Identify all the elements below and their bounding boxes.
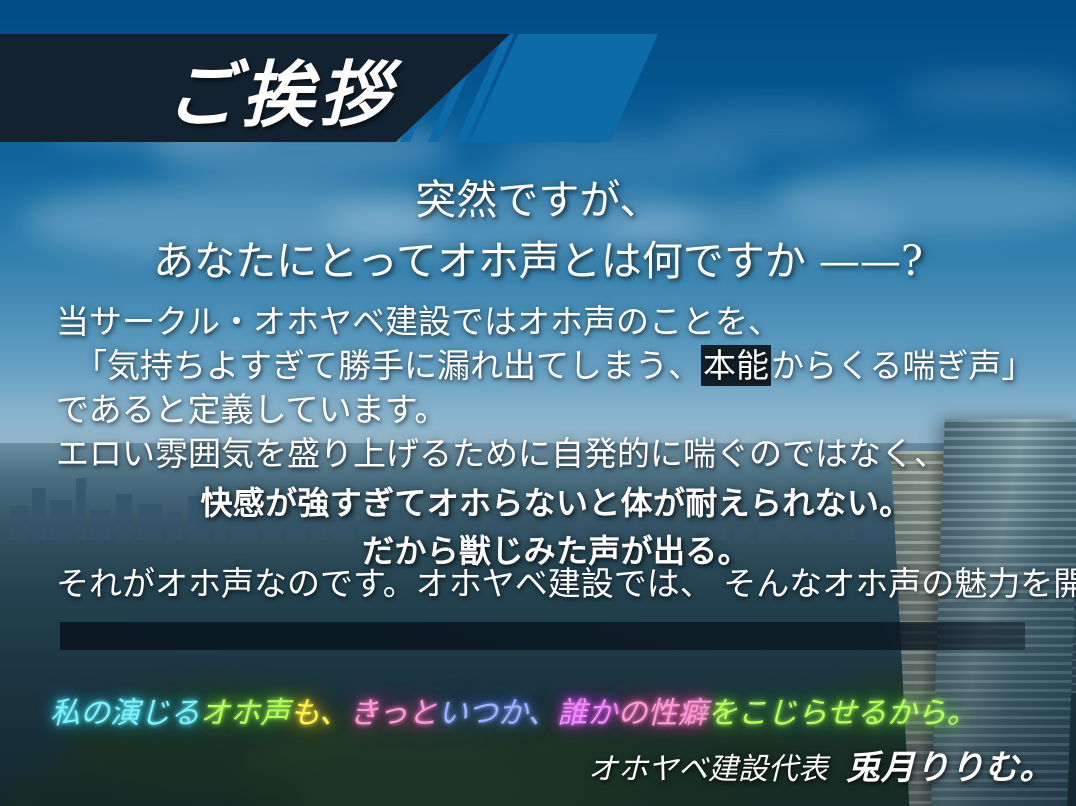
body-text-lower: それがオホ声なのです。オホヤベ建設では、 そんなオホ声の魅力を開拓し、皆様にご提… — [56, 562, 1066, 606]
text-backdrop-band — [60, 622, 1025, 650]
neon-tagline: 私の演じるオホ声も、きっといつか、誰かの性癖をこじらせるから。 — [50, 688, 1060, 732]
body-line-5: それがオホ声なのです。オホヤベ建設では、 — [56, 564, 713, 603]
body-line-2-highlight: 本能 — [701, 345, 771, 386]
body-line-6: そんなオホ声の魅力を開拓し、皆様にご提案してまいります。 — [723, 564, 1076, 603]
headline-block: 突然ですが、 あなたにとってオホ声とは何ですか ——? — [0, 170, 1076, 291]
signature-block: オホヤベ建設代表兎月りりむ。 — [588, 740, 1054, 789]
headline-line-1: 突然ですが、 — [0, 170, 1076, 231]
neon-segment-5: いつか、 — [438, 696, 557, 731]
headline-line-2: あなたにとってオホ声とは何ですか ——? — [0, 231, 1076, 292]
body-line-1: 当サークル・オホヤベ建設ではオホ声のことを、 — [56, 300, 1056, 344]
neon-segment-2: オホ声 — [200, 696, 290, 731]
body-line-2-part-a: 「気持ちよすぎて勝手に漏れ出てしまう、 — [74, 346, 701, 385]
emphasis-line-1: 快感が強すぎてオホらないと体が耐えられない。 — [56, 482, 1056, 525]
page-title: ご挨拶 — [0, 34, 520, 142]
slide-root: ご挨拶 突然ですが、 あなたにとってオホ声とは何ですか ——? 当サークル・オホ… — [0, 0, 1076, 806]
body-line-2: 「気持ちよすぎて勝手に漏れ出てしまう、本能からくる喘ぎ声」 — [56, 344, 1056, 388]
neon-segment-6: 誰か — [557, 696, 617, 731]
signature-name: 兎月りりむ。 — [846, 748, 1054, 788]
signature-org: オホヤベ建設代表 — [588, 752, 828, 787]
neon-segment-7: の性癖 — [617, 696, 707, 731]
neon-segment-4: きっと — [349, 696, 438, 731]
neon-segment-1: 私の演じる — [50, 696, 200, 731]
body-line-2-part-b: からくる喘ぎ声」 — [771, 346, 1034, 385]
body-text-upper: 当サークル・オホヤベ建設ではオホ声のことを、 「気持ちよすぎて勝手に漏れ出てしま… — [56, 300, 1056, 575]
neon-segment-8: をこじらせるから。 — [707, 696, 976, 731]
body-line-4: エロい雰囲気を盛り上げるために自発的に喘ぐのではなく、 — [56, 432, 1056, 476]
neon-segment-3: も、 — [290, 696, 349, 731]
body-line-3: であると定義しています。 — [56, 388, 1056, 432]
